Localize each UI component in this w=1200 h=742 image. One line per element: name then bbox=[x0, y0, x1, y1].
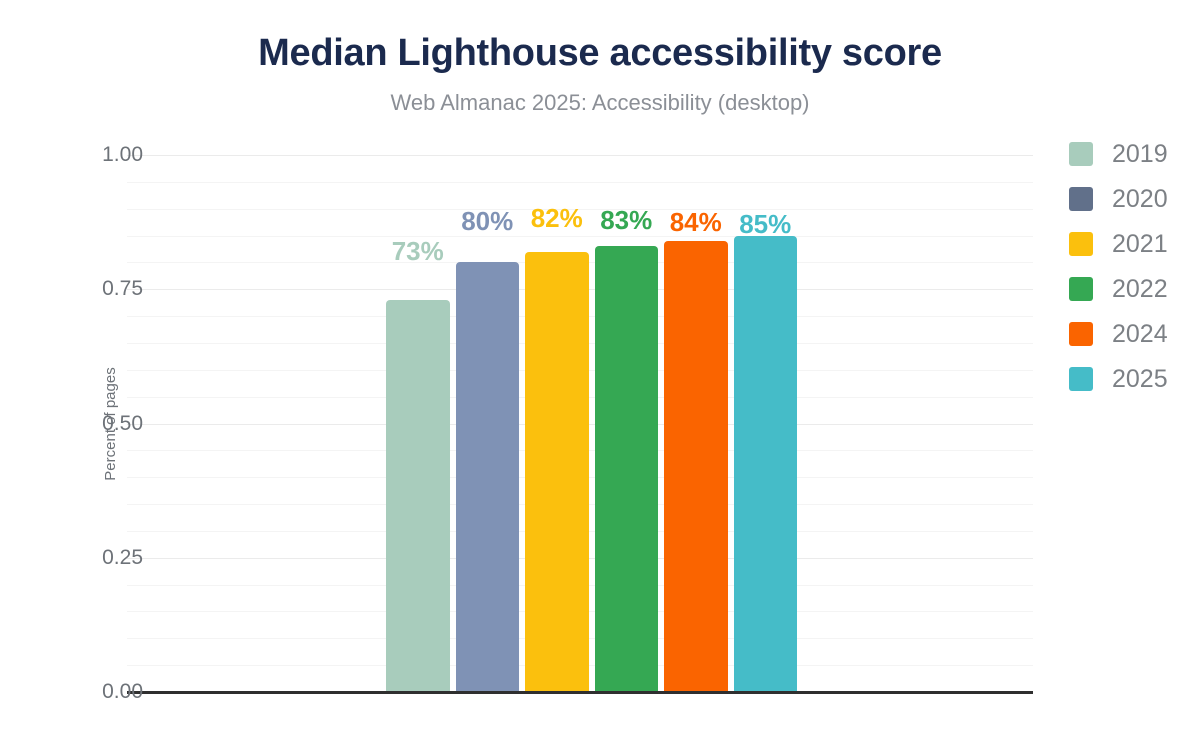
chart-figure: Median Lighthouse accessibility score We… bbox=[0, 0, 1200, 742]
legend-label: 2022 bbox=[1112, 275, 1168, 304]
chart-subtitle: Web Almanac 2025: Accessibility (desktop… bbox=[0, 90, 1200, 116]
bar-value-label: 80% bbox=[461, 206, 513, 237]
legend-swatch bbox=[1069, 367, 1093, 391]
bar[interactable] bbox=[595, 246, 659, 692]
chart-title: Median Lighthouse accessibility score bbox=[0, 32, 1200, 75]
gridline-minor bbox=[127, 236, 1033, 237]
legend-item[interactable]: 2021 bbox=[1069, 232, 1200, 277]
legend-label: 2024 bbox=[1112, 320, 1168, 349]
bar[interactable] bbox=[525, 252, 589, 692]
gridline-major bbox=[127, 155, 1033, 156]
legend: 201920202021202220242025 bbox=[1069, 142, 1200, 412]
legend-swatch bbox=[1069, 187, 1093, 211]
x-axis-baseline bbox=[127, 691, 1033, 694]
legend-label: 2020 bbox=[1112, 185, 1168, 214]
bar-value-label: 82% bbox=[531, 203, 583, 234]
y-axis-tick-label: 0.50 bbox=[102, 412, 143, 436]
bar[interactable] bbox=[456, 262, 520, 692]
legend-label: 2025 bbox=[1112, 365, 1168, 394]
legend-label: 2021 bbox=[1112, 230, 1168, 259]
legend-item[interactable]: 2024 bbox=[1069, 322, 1200, 367]
legend-swatch bbox=[1069, 142, 1093, 166]
legend-item[interactable]: 2020 bbox=[1069, 187, 1200, 232]
y-axis-tick-label: 1.00 bbox=[102, 143, 143, 167]
bar-value-label: 73% bbox=[392, 236, 444, 267]
legend-item[interactable]: 2019 bbox=[1069, 142, 1200, 187]
gridline-minor bbox=[127, 182, 1033, 183]
bar-value-label: 83% bbox=[600, 205, 652, 236]
bar[interactable] bbox=[664, 241, 728, 692]
bar[interactable] bbox=[386, 300, 450, 692]
legend-swatch bbox=[1069, 322, 1093, 346]
bar-value-label: 85% bbox=[739, 209, 791, 240]
legend-item[interactable]: 2025 bbox=[1069, 367, 1200, 412]
y-axis-title-container: Percent of pages bbox=[24, 155, 64, 692]
y-axis-tick-label: 0.25 bbox=[102, 546, 143, 570]
legend-swatch bbox=[1069, 277, 1093, 301]
bar[interactable] bbox=[734, 236, 798, 692]
y-axis-tick-label: 0.00 bbox=[102, 680, 143, 704]
plot-area bbox=[127, 155, 1033, 692]
legend-swatch bbox=[1069, 232, 1093, 256]
bar-value-label: 84% bbox=[670, 207, 722, 238]
legend-label: 2019 bbox=[1112, 140, 1168, 169]
legend-item[interactable]: 2022 bbox=[1069, 277, 1200, 322]
y-axis-tick-label: 0.75 bbox=[102, 277, 143, 301]
